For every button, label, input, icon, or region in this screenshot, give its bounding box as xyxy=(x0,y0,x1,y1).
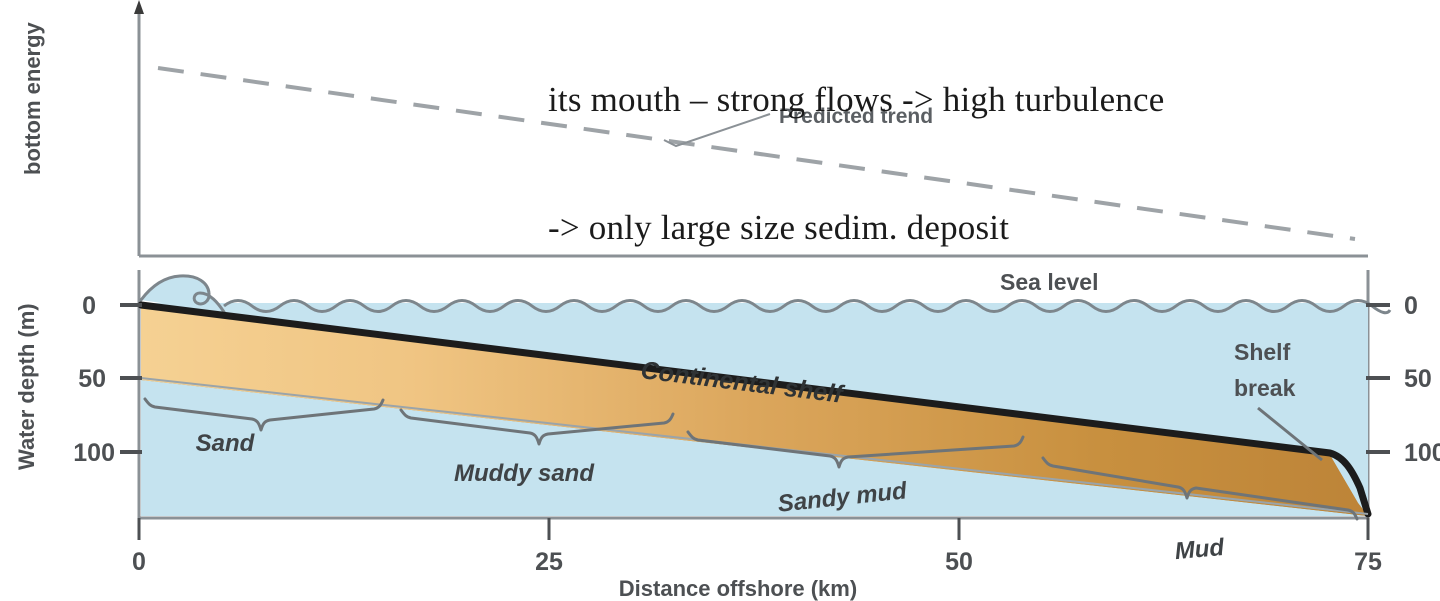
overlay-line-2: -> only large size sedim. deposit xyxy=(548,207,1368,250)
lower-y-axis-right: 0 50 100 xyxy=(1366,292,1440,467)
y-tick-right-label-100: 100 xyxy=(1404,439,1440,467)
x-tick-label-50: 50 xyxy=(945,548,973,576)
lower-panel-ylabel: Water depth (m) xyxy=(14,303,39,470)
overlay-line-1: its mouth – strong flows -> high turbule… xyxy=(548,79,1368,122)
y-tick-left-label-0: 0 xyxy=(82,292,96,320)
sediment-label-muddy-sand: Muddy sand xyxy=(454,460,595,487)
lower-panel: 0 50 100 Water depth (m) 0 50 100 0 25 5… xyxy=(14,269,1440,601)
y-tick-right-label-0: 0 xyxy=(1404,292,1418,320)
y-tick-right-label-50: 50 xyxy=(1404,365,1432,393)
upper-panel-ylabel: bottom energy xyxy=(20,21,45,175)
shelf-break-label-line2: break xyxy=(1234,375,1296,401)
upper-y-axis-arrow xyxy=(134,0,144,14)
shelf-break-label-line1: Shelf xyxy=(1234,339,1291,365)
x-tick-label-75: 75 xyxy=(1354,548,1382,576)
slide-overlay-text: its mouth – strong flows -> high turbule… xyxy=(548,0,1368,293)
sediment-label-mud: Mud xyxy=(1174,534,1227,565)
x-tick-label-25: 25 xyxy=(535,548,563,576)
lower-panel-xlabel: Distance offshore (km) xyxy=(619,576,857,601)
sediment-label-sand: Sand xyxy=(196,430,256,457)
y-tick-left-label-100: 100 xyxy=(73,439,115,467)
lower-y-axis-left: 0 50 100 Water depth (m) xyxy=(14,292,142,470)
x-tick-label-0: 0 xyxy=(132,548,146,576)
